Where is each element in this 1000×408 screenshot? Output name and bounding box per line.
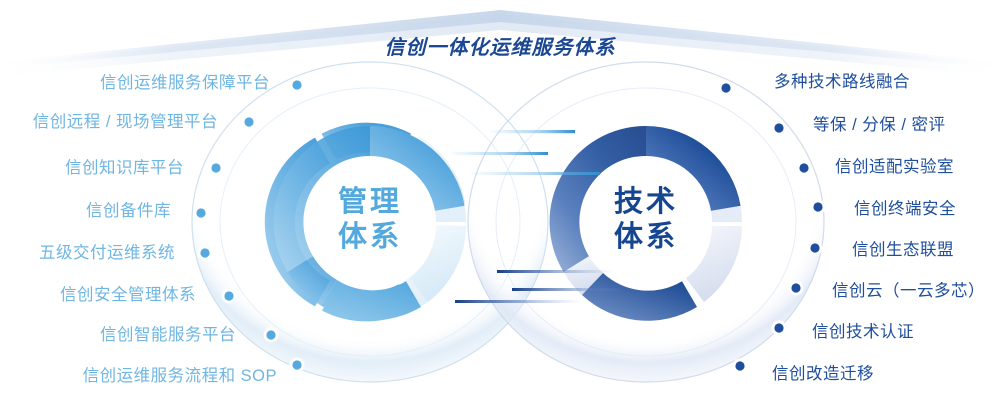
ring-dot xyxy=(209,161,224,176)
left-label-5[interactable]: 五级交付运维系统 xyxy=(39,245,175,262)
right-label-3[interactable]: 信创适配实验室 xyxy=(835,159,954,176)
left-label-7[interactable]: 信创智能服务平台 xyxy=(100,327,236,344)
ring-dot xyxy=(264,328,279,343)
left-label-1[interactable]: 信创运维服务保障平台 xyxy=(100,75,270,92)
ring-dot xyxy=(242,115,257,130)
ring-dot xyxy=(290,78,305,93)
management-core-line-1: 管理 xyxy=(300,185,440,220)
infographic-canvas: 信创一体化运维服务体系 信创运维服务保障平台 信创远程 / 现场管理平台 信创知… xyxy=(0,0,1000,408)
ring-dot xyxy=(772,321,787,336)
left-label-2[interactable]: 信创远程 / 现场管理平台 xyxy=(33,114,218,131)
right-label-1[interactable]: 多种技术路线融合 xyxy=(774,74,910,91)
ring-dot xyxy=(772,121,787,136)
left-label-8[interactable]: 信创运维服务流程和 SOP xyxy=(83,368,277,385)
technology-core-label: 技术 体系 xyxy=(576,185,716,256)
right-label-8[interactable]: 信创改造迁移 xyxy=(772,366,874,383)
ring-dot xyxy=(797,161,812,176)
right-label-2[interactable]: 等保 / 分保 / 密评 xyxy=(813,117,946,134)
ring-dot xyxy=(194,206,209,221)
ring-dot xyxy=(808,241,823,256)
technology-core-line-2: 体系 xyxy=(576,220,716,255)
management-core-label: 管理 体系 xyxy=(300,185,440,256)
page-title: 信创一体化运维服务体系 xyxy=(0,31,1000,60)
ring-dot xyxy=(198,246,213,261)
ring-dot xyxy=(290,358,305,373)
ring-dot xyxy=(733,359,748,374)
ring-dot xyxy=(811,200,826,215)
right-label-7[interactable]: 信创技术认证 xyxy=(812,324,914,341)
left-label-3[interactable]: 信创知识库平台 xyxy=(65,160,184,177)
ring-dot xyxy=(719,81,734,96)
right-label-5[interactable]: 信创生态联盟 xyxy=(852,242,954,259)
left-label-6[interactable]: 信创安全管理体系 xyxy=(60,287,196,304)
left-label-4[interactable]: 信创备件库 xyxy=(86,203,171,220)
management-core-line-2: 体系 xyxy=(300,220,440,255)
right-label-6[interactable]: 信创云（一云多芯） xyxy=(832,283,985,300)
technology-core-line-1: 技术 xyxy=(576,185,716,220)
ring-dot xyxy=(789,281,804,296)
ring-dot xyxy=(222,289,237,304)
right-label-4[interactable]: 信创终端安全 xyxy=(854,201,956,218)
